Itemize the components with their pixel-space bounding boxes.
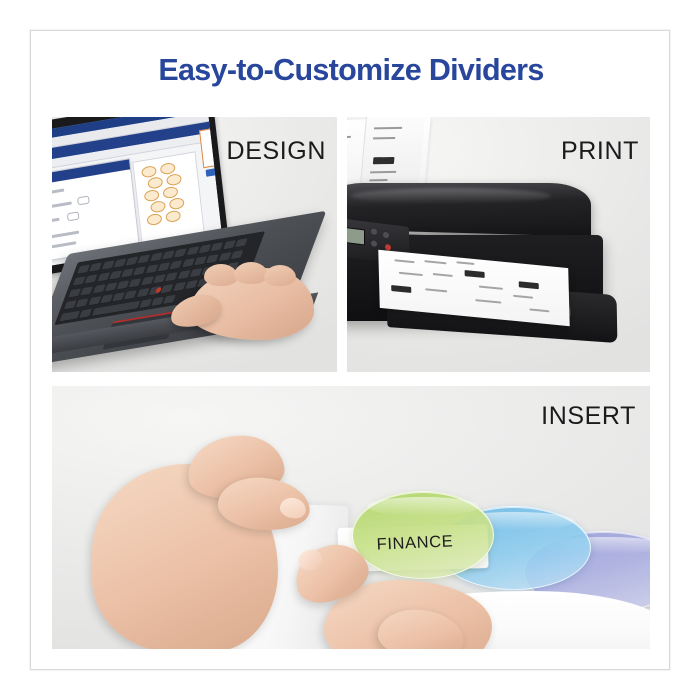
hand-knuckle xyxy=(264,265,296,286)
page-title: Easy-to-Customize Dividers xyxy=(31,53,671,88)
divider-tab-icon xyxy=(166,173,182,186)
key xyxy=(77,265,90,275)
printed-line xyxy=(369,179,387,181)
key xyxy=(230,250,243,260)
key xyxy=(59,311,80,323)
key xyxy=(145,264,158,274)
dialog-input xyxy=(77,195,90,205)
divider-tab-icon xyxy=(165,210,181,223)
dialog-text-row xyxy=(52,201,72,211)
design-preview-pane xyxy=(196,120,222,182)
key xyxy=(137,254,150,264)
key xyxy=(141,276,154,286)
tab-highlight xyxy=(367,497,479,516)
key xyxy=(101,260,114,270)
key xyxy=(100,294,113,304)
printed-line xyxy=(456,261,474,265)
key xyxy=(97,272,110,282)
key xyxy=(162,250,175,260)
key xyxy=(85,274,98,284)
lid-highlight xyxy=(351,188,551,204)
key xyxy=(112,292,125,302)
printer-button[interactable] xyxy=(383,232,389,239)
design-canvas xyxy=(132,151,204,243)
key xyxy=(72,276,85,286)
printed-line xyxy=(373,137,395,139)
dialog-text-row xyxy=(52,189,64,198)
key xyxy=(210,242,223,252)
key xyxy=(151,297,164,307)
key xyxy=(222,240,235,250)
hand-icon xyxy=(164,262,314,348)
key xyxy=(133,266,146,276)
key xyxy=(89,262,102,272)
key xyxy=(109,270,122,280)
printed-line xyxy=(475,299,501,304)
key xyxy=(79,309,92,319)
printed-line xyxy=(433,273,453,277)
printed-line xyxy=(394,259,414,263)
key xyxy=(68,288,81,298)
printed-tab xyxy=(391,285,411,293)
printed-line xyxy=(529,308,549,312)
dialog-input xyxy=(67,211,80,221)
printer-button[interactable] xyxy=(371,228,377,235)
key xyxy=(116,280,129,290)
product-feature-image: Easy-to-Customize Dividers xyxy=(0,0,700,700)
key xyxy=(150,252,163,262)
key xyxy=(92,284,105,294)
divider-tab-icon xyxy=(146,213,162,226)
key xyxy=(121,268,134,278)
card-frame: Easy-to-Customize Dividers xyxy=(30,30,670,670)
preview-button[interactable] xyxy=(206,167,223,177)
printer-button[interactable] xyxy=(371,240,377,247)
printed-line xyxy=(399,272,423,276)
key xyxy=(235,238,248,248)
dialog-text-row xyxy=(52,218,60,225)
panel-design: DESIGN xyxy=(52,117,337,372)
printed-line xyxy=(374,127,402,129)
key xyxy=(76,298,89,308)
panel-label-print: PRINT xyxy=(561,137,639,166)
feeder-sheet-back xyxy=(360,117,426,190)
printed-line xyxy=(347,136,351,139)
panel-label-insert: INSERT xyxy=(541,402,636,431)
hand-knuckle xyxy=(204,264,238,286)
printed-tab xyxy=(465,270,485,278)
key xyxy=(186,246,199,256)
key xyxy=(124,290,137,300)
key xyxy=(113,258,126,268)
printed-line xyxy=(479,285,503,289)
template-thumbnail xyxy=(199,127,222,168)
key xyxy=(104,282,117,292)
panel-print: PRINT xyxy=(347,117,650,372)
divider-tab-icon xyxy=(147,176,163,189)
key xyxy=(218,252,231,262)
divider-tab-icon xyxy=(150,200,166,213)
printed-line xyxy=(424,260,446,264)
key xyxy=(139,299,152,309)
key xyxy=(136,288,149,298)
printed-line xyxy=(370,171,396,173)
panel-insert: FINANCE INSERT xyxy=(52,386,650,649)
hand-knuckle xyxy=(234,262,268,284)
panel-label-design: DESIGN xyxy=(227,137,326,166)
printed-tab xyxy=(519,281,539,289)
printed-tab xyxy=(373,157,395,164)
printed-line xyxy=(425,288,447,292)
printer-lcd-screen xyxy=(347,226,365,246)
key xyxy=(64,300,77,310)
key xyxy=(125,256,138,266)
key xyxy=(198,244,211,254)
key xyxy=(174,248,187,258)
key xyxy=(129,278,142,288)
dialog-text-row xyxy=(52,241,76,251)
key xyxy=(88,296,101,306)
printed-line xyxy=(513,295,533,299)
divider-tab-icon xyxy=(169,197,185,210)
key xyxy=(80,286,93,296)
dialog-text-row xyxy=(52,231,79,241)
